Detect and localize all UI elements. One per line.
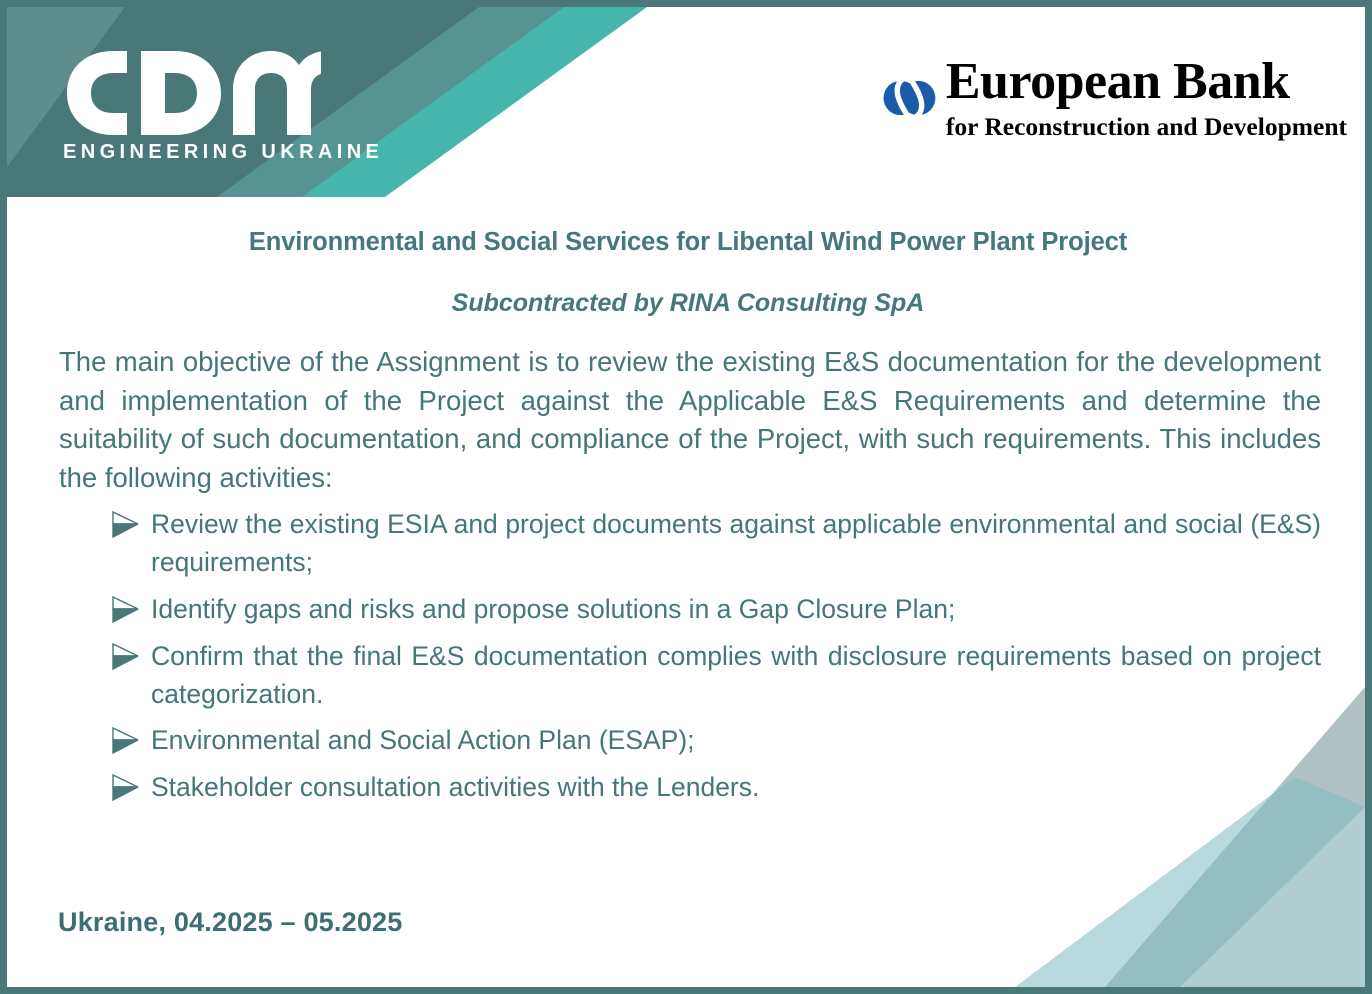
list-item-label: Confirm that the final E&S documentation… <box>151 641 1321 709</box>
arrow-bullet-icon <box>111 774 141 802</box>
deco-band-teal <box>1015 777 1365 987</box>
ebrd-subtitle-line: for Reconstruction and Development <box>946 114 1347 140</box>
cdm-wordmark-icon <box>63 45 321 140</box>
cdm-logo: ENGINEERING UKRAINE <box>63 45 363 170</box>
ebrd-title-line: European Bank <box>946 56 1347 108</box>
arrow-bullet-icon <box>111 596 141 624</box>
list-item: Confirm that the final E&S documentation… <box>107 638 1321 714</box>
list-item-label: Identify gaps and risks and propose solu… <box>151 594 955 624</box>
ebrd-circles-icon <box>883 52 936 144</box>
list-item: Identify gaps and risks and propose solu… <box>107 591 1321 629</box>
page-title: Environmental and Social Services for Li… <box>51 228 1325 257</box>
list-item-label: Environmental and Social Action Plan (ES… <box>151 725 695 755</box>
list-item: Stakeholder consultation activities with… <box>107 769 1321 807</box>
arrow-bullet-icon <box>111 511 141 539</box>
arrow-bullet-icon <box>111 727 141 755</box>
page-subtitle: Subcontracted by RINA Consulting SpA <box>51 289 1325 318</box>
footer-date: Ukraine, 04.2025 – 05.2025 <box>58 907 402 938</box>
list-item: Review the existing ESIA and project doc… <box>107 506 1321 582</box>
ebrd-logo: European Bank for Reconstruction and Dev… <box>883 45 1347 150</box>
header-banner: ENGINEERING UKRAINE European Bank for Re… <box>7 7 1365 197</box>
slide-canvas: ENGINEERING UKRAINE European Bank for Re… <box>0 0 1372 994</box>
arrow-bullet-icon <box>111 643 141 671</box>
deco-band-pale <box>1180 807 1365 987</box>
slide-content: Environmental and Social Services for Li… <box>7 197 1365 807</box>
list-item-label: Review the existing ESIA and project doc… <box>151 509 1321 577</box>
activities-list: Review the existing ESIA and project doc… <box>51 506 1325 807</box>
objective-paragraph: The main objective of the Assignment is … <box>59 343 1321 497</box>
list-item-label: Stakeholder consultation activities with… <box>151 772 759 802</box>
list-item: Environmental and Social Action Plan (ES… <box>107 722 1321 760</box>
cdm-tagline: ENGINEERING UKRAINE <box>63 142 321 162</box>
ebrd-wordmark: European Bank for Reconstruction and Dev… <box>946 56 1347 140</box>
